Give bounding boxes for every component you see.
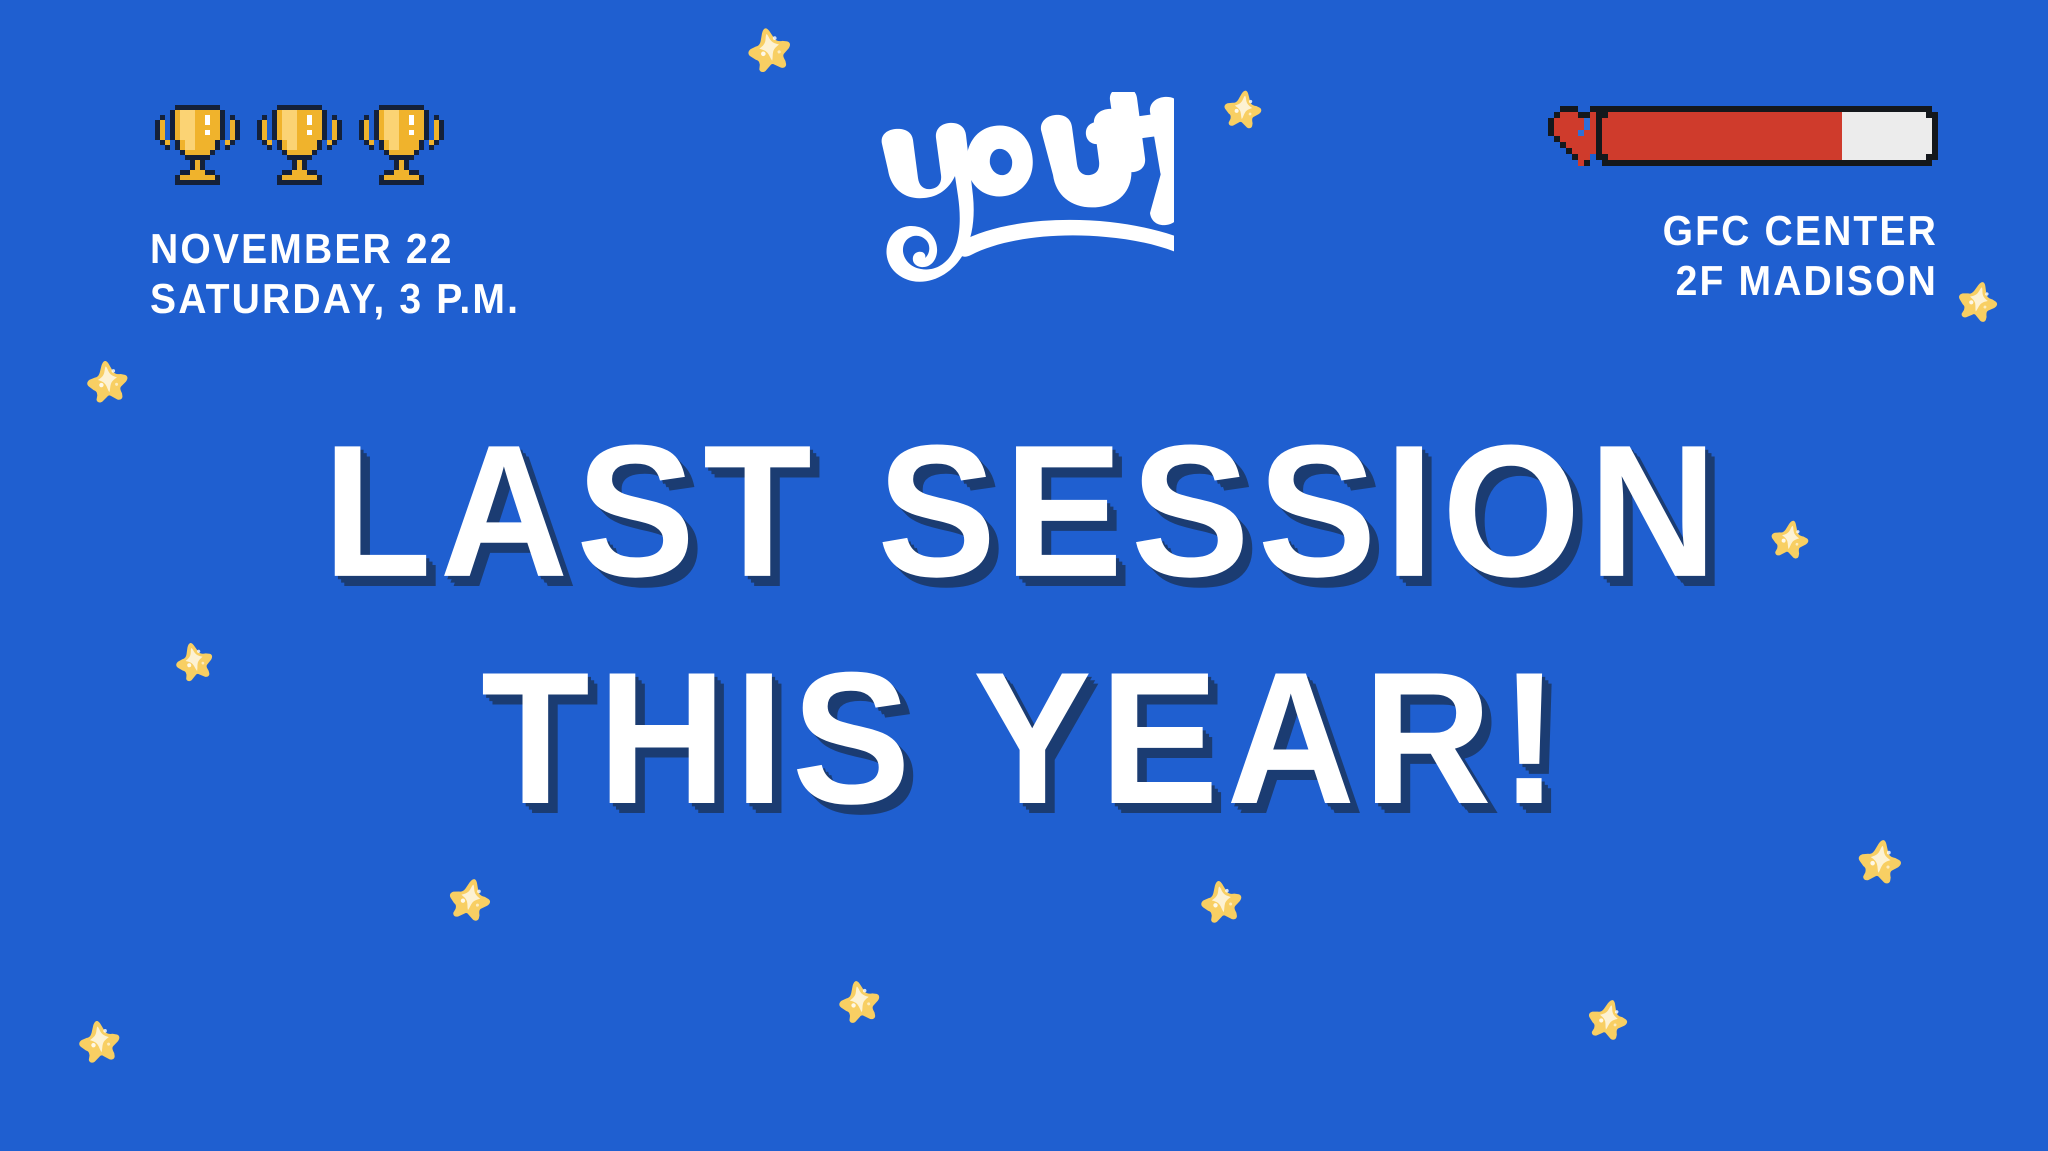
youth-wordmark (874, 92, 1174, 307)
venue-detail: 2F MADISON (1575, 256, 1938, 306)
health-bar (1548, 100, 1938, 172)
event-poster: NOVEMBER 22 SATURDAY, 3 P.M. (0, 0, 2048, 1151)
star-glyph (834, 974, 886, 1026)
venue-name: GFC CENTER (1575, 206, 1938, 256)
headline-block: LAST SESSION THIS YEAR! (0, 432, 2048, 822)
star-icon (1952, 275, 2004, 331)
date-time-text: NOVEMBER 22 SATURDAY, 3 P.M. (150, 224, 548, 323)
star-icon (1220, 85, 1266, 135)
trophy-row (150, 100, 548, 190)
star-icon (742, 21, 798, 80)
heart-health-bar-icon (1548, 100, 1938, 172)
star-icon (1853, 834, 1906, 892)
trophy-icon (354, 100, 454, 190)
star-glyph (444, 872, 496, 924)
star-glyph (1583, 993, 1633, 1043)
star-icon (1196, 875, 1248, 931)
event-venue-block: GFC CENTER 2F MADISON (1548, 100, 1938, 305)
trophy-icon (252, 100, 352, 190)
star-icon (443, 872, 496, 929)
star-glyph (83, 355, 133, 405)
star-glyph (74, 1015, 124, 1065)
star-glyph (1221, 85, 1266, 130)
headline-line-1: LAST SESSION (0, 422, 2048, 601)
star-glyph (1953, 275, 2004, 326)
headline-line-2: THIS YEAR! (0, 644, 2048, 832)
youth-logo (874, 92, 1174, 307)
star-icon (83, 355, 133, 410)
star-glyph (1854, 834, 1907, 887)
event-time: SATURDAY, 3 P.M. (150, 274, 520, 324)
event-date-block: NOVEMBER 22 SATURDAY, 3 P.M. (150, 100, 548, 323)
star-icon (834, 974, 887, 1030)
star-glyph (742, 21, 797, 76)
star-glyph (1196, 875, 1247, 926)
trophy-icon (150, 100, 250, 190)
venue-text: GFC CENTER 2F MADISON (1548, 206, 1938, 305)
star-icon (1582, 993, 1633, 1048)
event-date: NOVEMBER 22 (150, 224, 520, 274)
star-icon (74, 1015, 125, 1070)
